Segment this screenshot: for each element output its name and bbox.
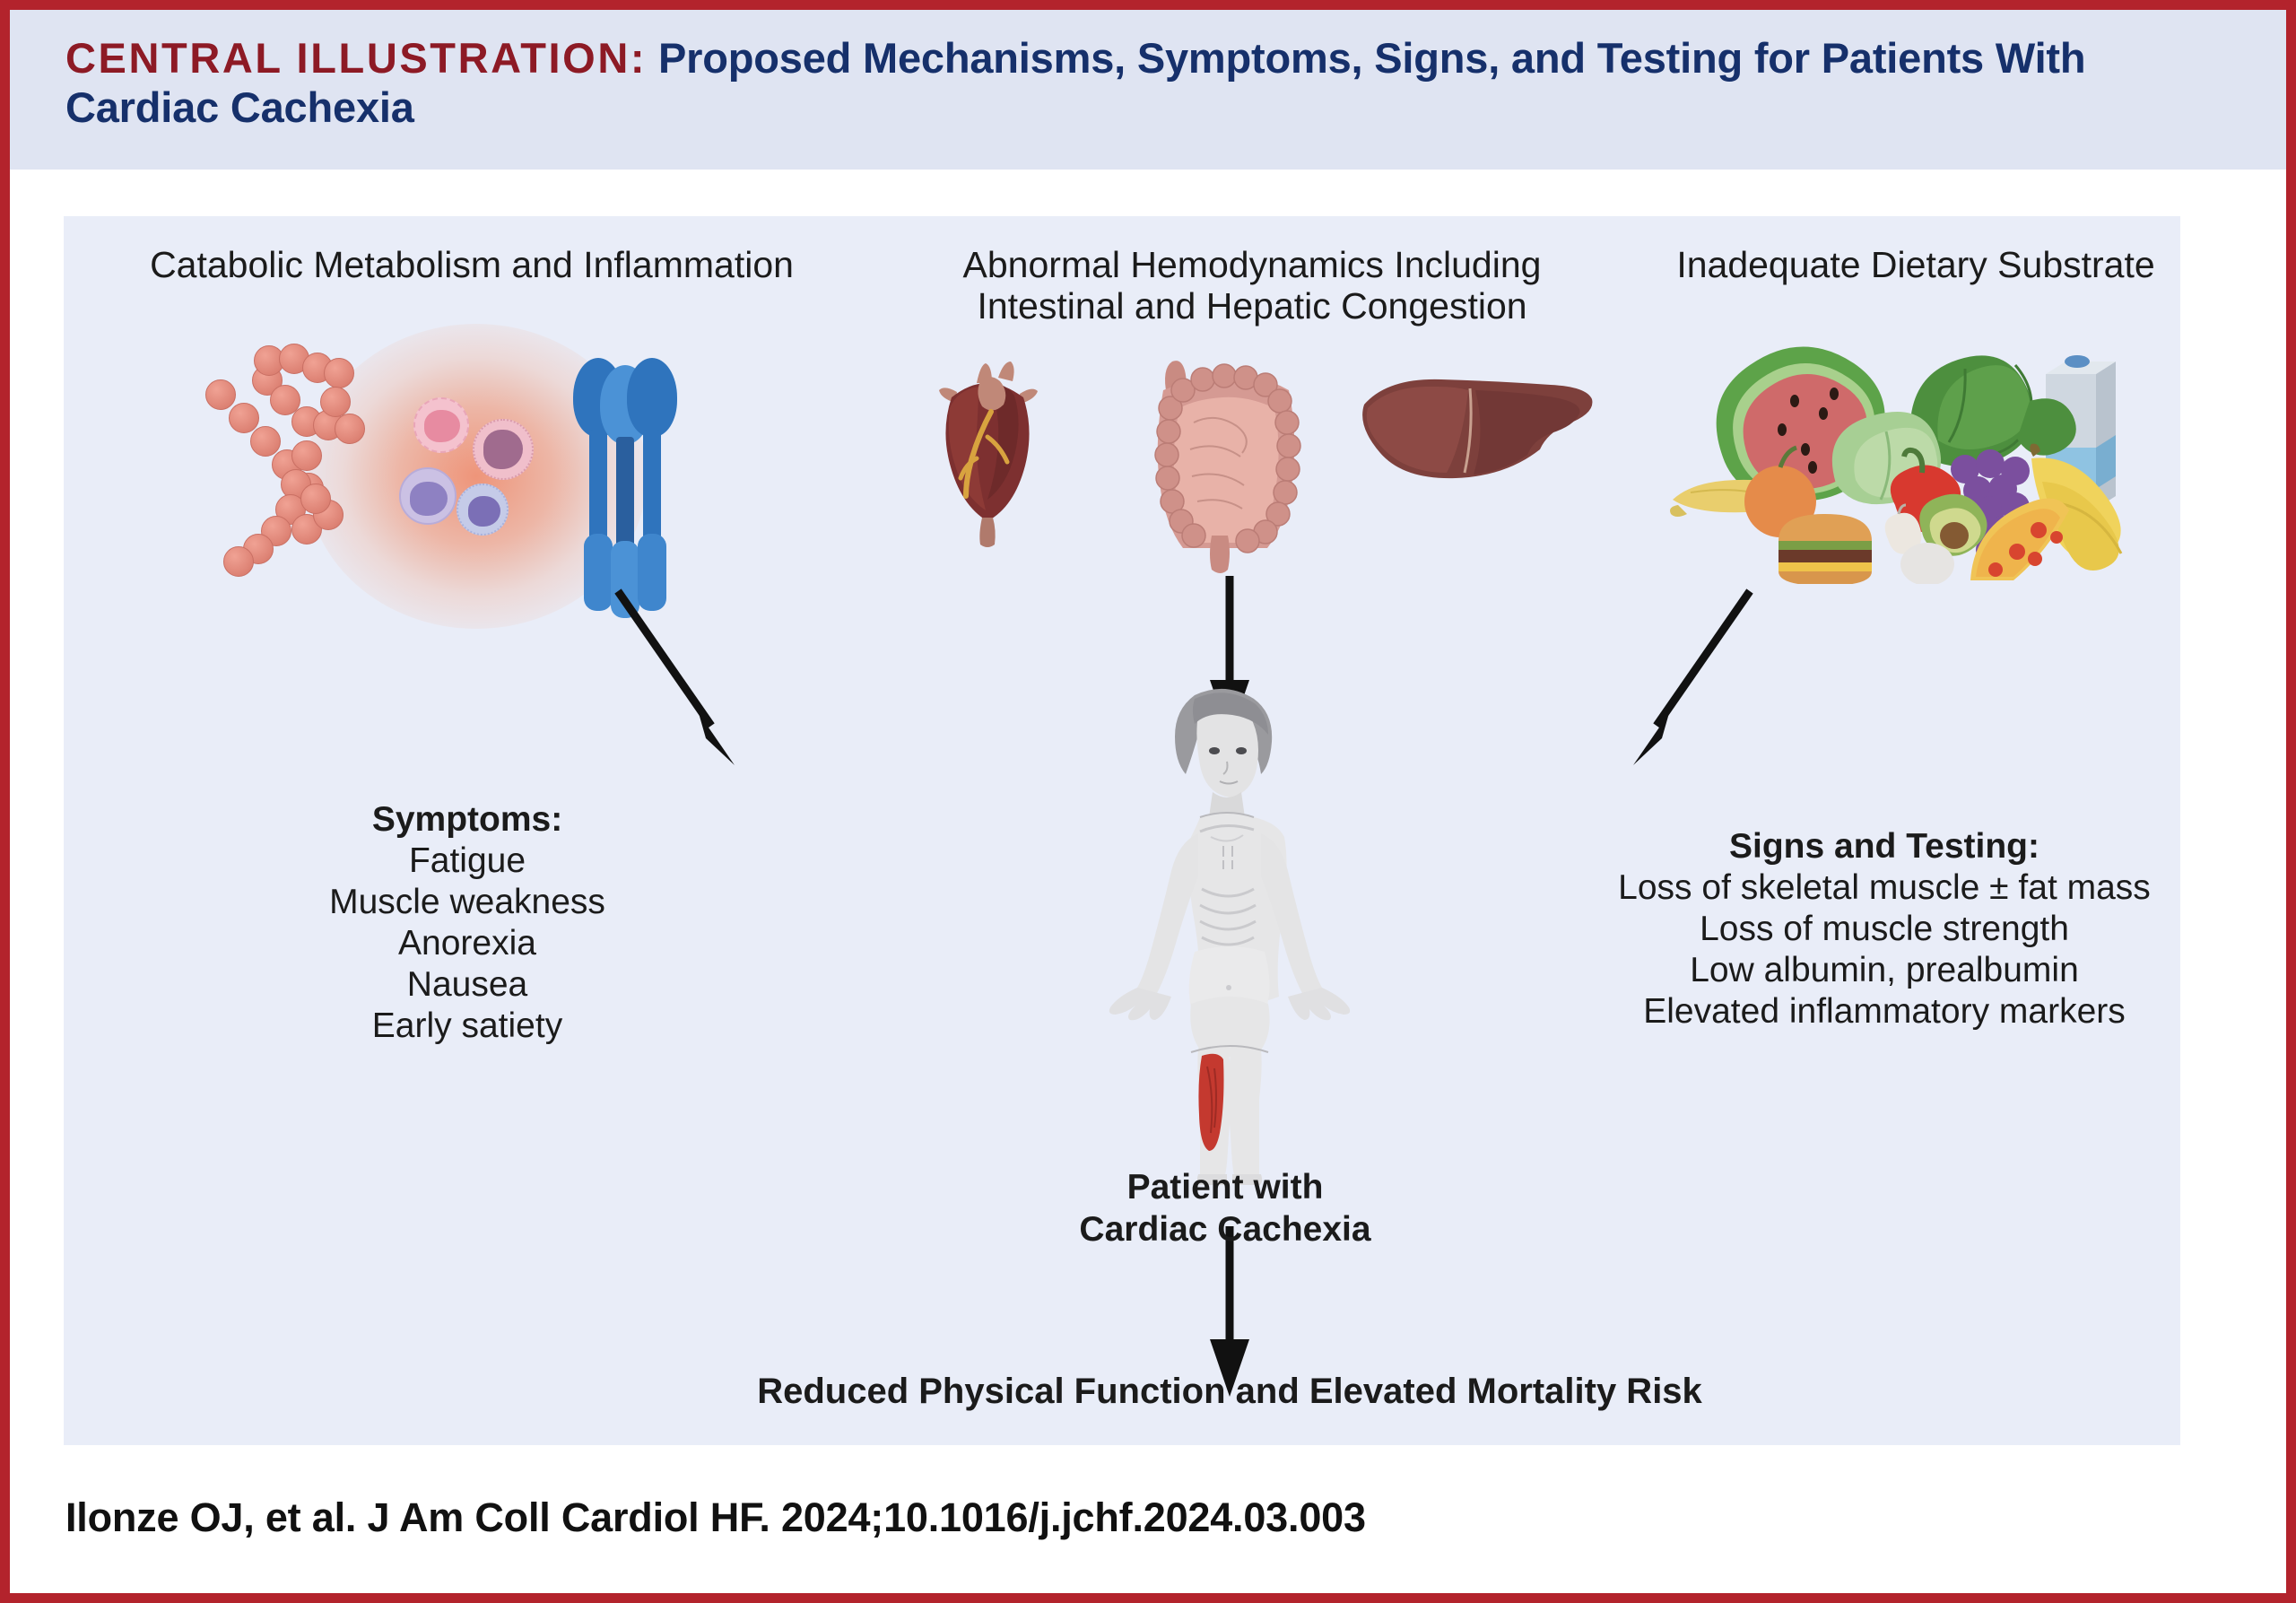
patient-caption: Patient with Cardiac Cachexia — [1032, 1167, 1418, 1251]
symptom-item: Fatigue — [180, 841, 754, 882]
signs-item: Loss of muscle strength — [1535, 909, 2234, 950]
symptom-item: Muscle weakness — [180, 882, 754, 923]
signs-item: Low albumin, prealbumin — [1535, 950, 2234, 991]
egg-icon — [1900, 543, 1954, 584]
outcome-caption: Reduced Physical Function and Elevated M… — [422, 1372, 2037, 1412]
signs-item: Loss of skeletal muscle ± fat mass — [1535, 867, 2234, 909]
column-heading-catabolic-metabolism: Catabolic Metabolism and Inflammation — [73, 245, 871, 286]
hemodynamics-heading-line-2: Intestinal and Hepatic Congestion — [898, 286, 1606, 327]
immune-cell-icon — [473, 419, 534, 480]
page-title: CENTRAL ILLUSTRATION: Proposed Mechanism… — [65, 33, 2232, 133]
patient-caption-line-1: Patient with — [1032, 1167, 1418, 1209]
immune-cell-icon — [457, 484, 509, 536]
hemodynamics-heading-line-1: Abnormal Hemodynamics Including — [898, 245, 1606, 286]
heart-icon — [939, 362, 1038, 547]
arrow-diagonal-down-right-icon — [602, 575, 781, 790]
symptoms-title: Symptoms: — [180, 799, 754, 841]
column-heading-abnormal-hemodynamics: Abnormal Hemodynamics Including Intestin… — [898, 245, 1606, 327]
signs-title: Signs and Testing: — [1535, 826, 2234, 867]
cachectic-patient-body-icon — [1091, 683, 1360, 1185]
signs-and-testing-list: Signs and Testing: Loss of skeletal musc… — [1535, 826, 2234, 1032]
header-kicker: CENTRAL ILLUSTRATION: — [65, 34, 647, 82]
foods-svg — [1669, 315, 2171, 584]
arrow-diagonal-down-left-icon — [1597, 575, 1777, 790]
symptoms-list: Symptoms: Fatigue Muscle weakness Anorex… — [180, 799, 754, 1047]
organs-svg — [925, 351, 1606, 575]
citation-text: Ilonze OJ, et al. J Am Coll Cardiol HF. … — [65, 1494, 1366, 1541]
signs-item: Elevated inflammatory markers — [1535, 991, 2234, 1032]
patient-caption-line-2: Cardiac Cachexia — [1032, 1209, 1418, 1251]
central-illustration-figure: CENTRAL ILLUSTRATION: Proposed Mechanism… — [0, 0, 2296, 1603]
column-heading-inadequate-dietary-substrate: Inadequate Dietary Substrate — [1642, 245, 2189, 286]
intestine-icon — [1155, 361, 1300, 573]
liver-icon — [1362, 379, 1592, 478]
illustration-panel: Catabolic Metabolism and Inflammation Ab… — [64, 216, 2180, 1445]
patient-svg — [1091, 683, 1360, 1185]
figure-header: CENTRAL ILLUSTRATION: Proposed Mechanism… — [10, 10, 2286, 170]
heart-intestine-liver-icon — [925, 351, 1606, 575]
immune-cell-icon — [399, 467, 457, 525]
burger-icon — [1779, 514, 1872, 584]
symptom-item: Early satiety — [180, 1006, 754, 1047]
symptom-item: Nausea — [180, 964, 754, 1006]
food-group-icon — [1669, 315, 2171, 584]
symptom-item: Anorexia — [180, 923, 754, 964]
immune-cell-icon — [413, 397, 469, 453]
